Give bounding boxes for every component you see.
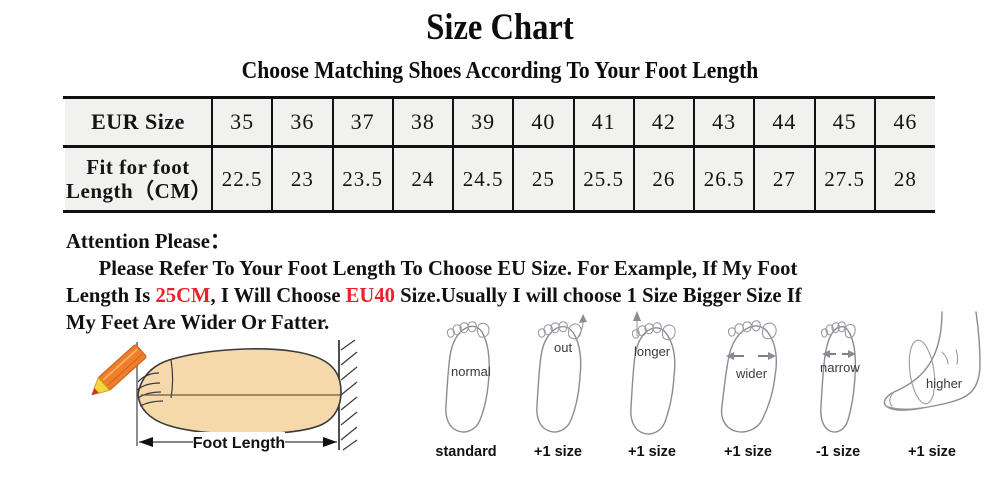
foot-caption-wider: +1 size	[724, 444, 772, 458]
table-cell-eur: 36	[272, 98, 332, 147]
size-chart-page: Size Chart Choose Matching Shoes Accordi…	[0, 0, 1000, 480]
foot-caption-higher: +1 size	[908, 444, 956, 458]
cell-value: 24.5	[463, 167, 504, 192]
cell-value: 23.5	[342, 167, 383, 192]
table-cell-length: 24	[393, 147, 453, 212]
foot-type-out: out +1 size	[534, 314, 587, 458]
narrow-arrows	[822, 350, 856, 358]
table-cell-eur: 44	[754, 98, 814, 147]
width-arrows	[726, 352, 776, 360]
foot-type-narrow: narrow -1 size	[816, 322, 861, 458]
page-subtitle: Choose Matching Shoes According To Your …	[50, 58, 950, 85]
foot-note-higher: higher	[926, 376, 963, 391]
foot-caption-standard: standard	[435, 444, 496, 458]
table-cell-length: 23	[272, 147, 332, 212]
cell-value: 37	[351, 109, 375, 135]
table-cell-length: 27.5	[815, 147, 875, 212]
table-cell-eur: 45	[815, 98, 875, 147]
foot-type-higher: higher +1 size	[884, 312, 980, 458]
foot-outline	[138, 349, 341, 434]
table-cell-length: 27	[754, 147, 814, 212]
cell-value: 25.5	[583, 167, 624, 192]
table-cell-eur: 37	[333, 98, 393, 147]
cell-value: 38	[411, 109, 435, 135]
cell-value: 35	[230, 109, 254, 135]
table-cell-length: 26	[634, 147, 694, 212]
size-table: EUR Size 35 36 37 38 39 40 41 42 43 44 4…	[63, 96, 935, 213]
cell-value: 27.5	[824, 167, 865, 192]
table-cell-length: 22.5	[212, 147, 272, 212]
cell-value: 24	[411, 167, 434, 192]
highlight-eu-size: EU40	[346, 283, 395, 307]
table-row-eur-size: EUR Size 35 36 37 38 39 40 41 42 43 44 4…	[64, 98, 935, 147]
foot-note-normal: normal	[451, 364, 491, 379]
cell-value: 43	[712, 109, 736, 135]
table-cell-length: 25.5	[574, 147, 634, 212]
table-cell-eur: 38	[393, 98, 453, 147]
attention-line-1: Please Refer To Your Foot Length To Choo…	[66, 255, 911, 282]
cell-value: 28	[894, 167, 917, 192]
table-cell-eur: 35	[212, 98, 272, 147]
cell-value: 46	[893, 109, 917, 135]
cell-value: 27	[773, 167, 796, 192]
foot-measure-diagram: Foot Length	[85, 338, 375, 460]
attention-heading: Attention Please：	[66, 228, 911, 255]
cell-value: 42	[652, 109, 676, 135]
foot-illustration	[137, 349, 341, 434]
table-cell-eur: 41	[574, 98, 634, 147]
table-cell-eur: 42	[634, 98, 694, 147]
foot-note-longer: longer	[634, 344, 671, 359]
table-cell-length: 26.5	[694, 147, 754, 212]
row-label-eur-size: EUR Size	[64, 98, 212, 147]
foot-note-wider: wider	[735, 366, 768, 381]
foot-type-diagrams: normal standard out +1 size long	[428, 306, 988, 458]
arrow-out-icon	[579, 314, 587, 323]
attention-line-2b: , I Will Choose	[211, 283, 346, 307]
table-cell-length: 28	[875, 147, 935, 212]
arrow-head-right	[323, 437, 337, 447]
table-cell-eur: 40	[513, 98, 573, 147]
foot-type-wider: wider +1 size	[722, 321, 777, 458]
row-label-line2: Length（CM）	[66, 179, 210, 203]
table-row-foot-length: Fit for foot Length（CM） 22.5 23 23.5 24 …	[64, 147, 935, 212]
table-cell-eur: 43	[694, 98, 754, 147]
cell-value: 22.5	[222, 167, 263, 192]
cell-value: 41	[592, 109, 616, 135]
table-cell-eur: 46	[875, 98, 935, 147]
arrow-head-left	[139, 437, 153, 447]
foot-caption-longer: +1 size	[628, 444, 676, 458]
highlight-foot-length: 25CM	[155, 283, 210, 307]
attention-line-2: Length Is 25CM, I Will Choose EU40 Size.…	[66, 282, 911, 309]
table-cell-length: 23.5	[333, 147, 393, 212]
table-cell-eur: 39	[453, 98, 513, 147]
cell-value: 26.5	[704, 167, 745, 192]
attention-line-2c: Size.Usually I will choose 1 Size Bigger…	[395, 283, 802, 307]
foot-note-out: out	[554, 340, 572, 355]
cell-value: 40	[531, 109, 555, 135]
foot-note-narrow: narrow	[820, 360, 860, 375]
page-title: Size Chart	[60, 6, 940, 49]
foot-caption-narrow: -1 size	[816, 444, 860, 458]
foot-length-label: Foot Length	[193, 435, 285, 452]
cell-value: 23	[291, 167, 314, 192]
cell-value: 39	[471, 109, 495, 135]
foot-length-measure: Foot Length	[139, 432, 337, 452]
foot-caption-out: +1 size	[534, 444, 582, 458]
pencil-body	[98, 344, 147, 390]
row-label-line1: Fit for foot	[66, 155, 210, 179]
table-cell-length: 25	[513, 147, 573, 212]
cell-value: 45	[833, 109, 857, 135]
foot-type-longer: longer +1 size	[628, 311, 676, 458]
cell-value: 26	[652, 167, 675, 192]
cell-value: 36	[290, 109, 314, 135]
attention-line-2a: Length Is	[66, 283, 155, 307]
foot-type-normal: normal standard	[435, 322, 496, 458]
row-label-foot-length: Fit for foot Length（CM）	[64, 147, 212, 212]
arrow-longer-icon	[633, 311, 641, 321]
cell-value: 44	[772, 109, 796, 135]
attention-line-1-text: Please Refer To Your Foot Length To Choo…	[99, 256, 798, 280]
cell-value: 25	[532, 167, 555, 192]
table-cell-length: 24.5	[453, 147, 513, 212]
